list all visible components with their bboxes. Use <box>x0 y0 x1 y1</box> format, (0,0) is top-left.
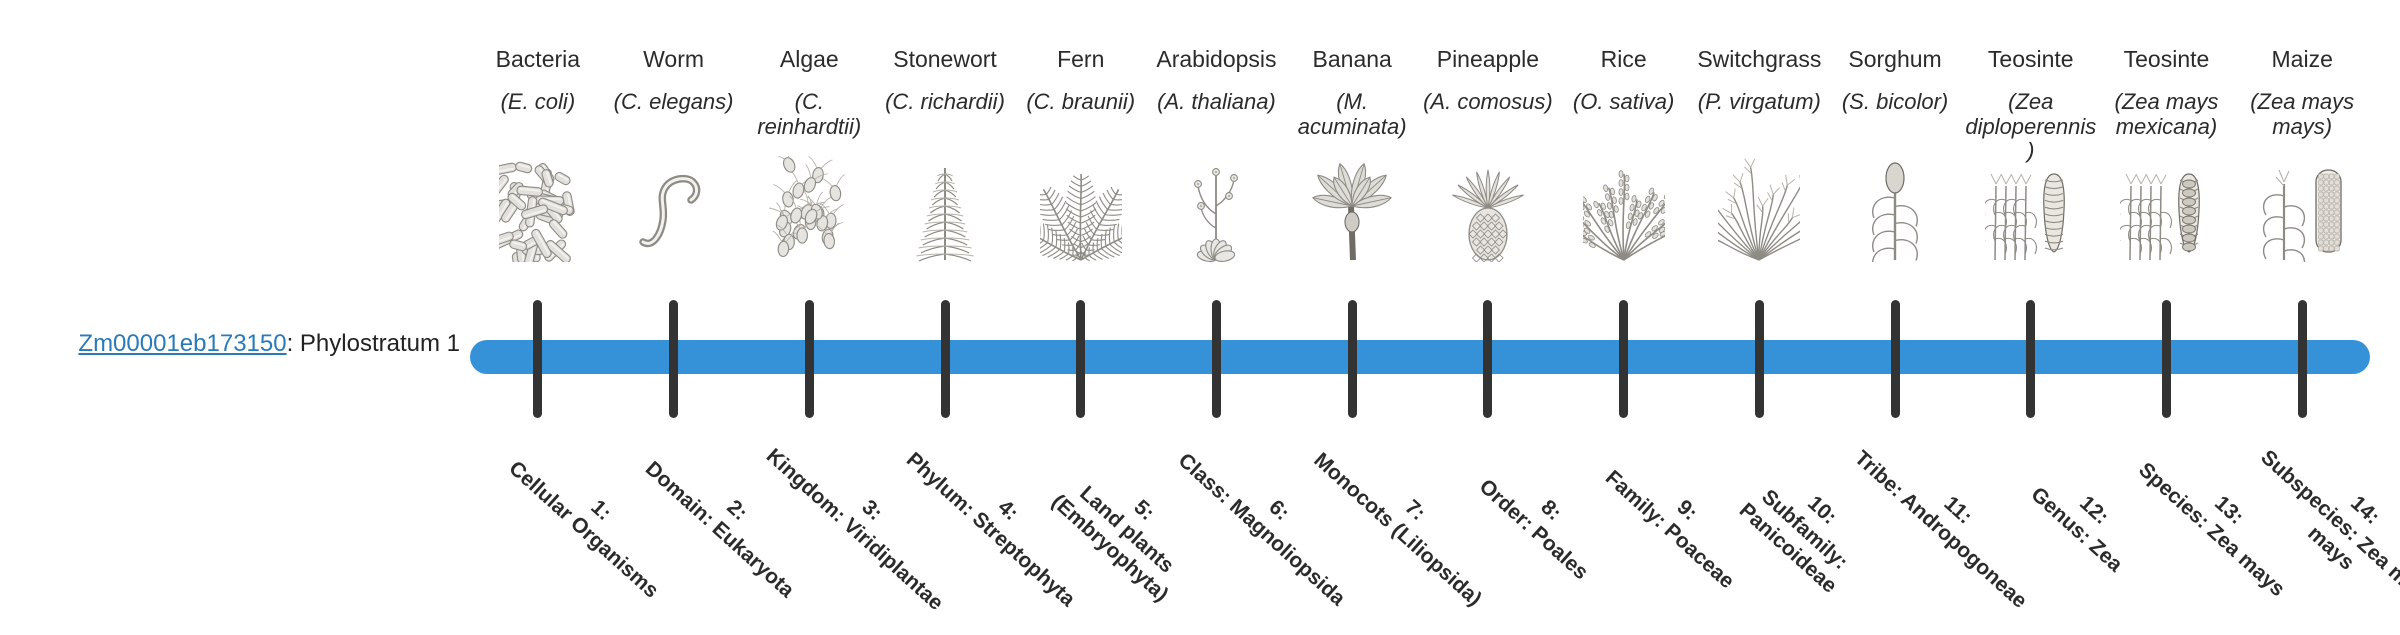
switchgrass-illustration <box>1691 154 1827 262</box>
species-common-name: Maize <box>2272 46 2333 76</box>
species-column: Pineapple(A. comosus) <box>1420 46 1556 306</box>
bacteria-illustration <box>470 154 606 262</box>
species-common-name: Rice <box>1601 46 1647 76</box>
teosinte-mexicana-illustration <box>2099 154 2235 262</box>
gene-id-link[interactable]: Zm00001eb173150 <box>78 330 286 357</box>
species-scientific-name: (A. thaliana) <box>1155 90 1278 148</box>
species-common-name: Fern <box>1057 46 1104 76</box>
species-column: Teosinte(Zea diploperennis) <box>1963 46 2099 306</box>
species-common-name: Arabidopsis <box>1156 46 1276 76</box>
gene-phylostratum-label: Zm00001eb173150: Phylostratum 1 <box>40 330 460 359</box>
species-column: Teosinte(Zea mays mexicana) <box>2099 46 2235 306</box>
species-common-name: Stonewort <box>893 46 997 76</box>
rice-illustration <box>1556 154 1692 262</box>
algae-illustration <box>741 154 877 262</box>
maize-illustration <box>2234 154 2370 262</box>
worm-illustration <box>606 154 742 262</box>
species-scientific-name: (S. bicolor) <box>1840 90 1950 148</box>
species-column: Worm(C. elegans) <box>606 46 742 306</box>
species-column: Algae(C. reinhardtii) <box>741 46 877 306</box>
species-column: Maize(Zea mays mays) <box>2234 46 2370 306</box>
pineapple-illustration <box>1420 154 1556 262</box>
species-common-name: Switchgrass <box>1697 46 1821 76</box>
species-scientific-name: (Zea mays mexicana) <box>2099 90 2235 148</box>
stonewort-illustration <box>877 154 1013 262</box>
species-column: Sorghum(S. bicolor) <box>1827 46 1963 306</box>
banana-illustration <box>1284 154 1420 262</box>
species-scientific-name: (E. coli) <box>499 90 578 148</box>
species-scientific-name: (P. virgatum) <box>1696 90 1823 148</box>
species-scientific-name: (C. richardii) <box>883 90 1007 148</box>
species-column: Switchgrass(P. virgatum) <box>1691 46 1827 306</box>
stratum-labels: 1: Cellular Organisms2: Domain: Eukaryot… <box>470 424 2370 580</box>
species-common-name: Algae <box>780 46 839 76</box>
phylostratum-bar[interactable] <box>470 340 2370 374</box>
species-scientific-name: (O. sativa) <box>1571 90 1676 148</box>
species-row: Bacteria(E. coli)Worm(C. elegans)Algae(C… <box>470 46 2370 306</box>
species-column: Stonewort(C. richardii) <box>877 46 1013 306</box>
sorghum-illustration <box>1827 154 1963 262</box>
species-scientific-name: (Zea diploperennis) <box>1963 90 2099 148</box>
gene-label-separator: : <box>287 330 300 357</box>
phylostratum-bar-fill <box>470 340 2370 374</box>
species-common-name: Sorghum <box>1848 46 1941 76</box>
species-column: Rice(O. sativa) <box>1556 46 1692 306</box>
species-common-name: Bacteria <box>496 46 580 76</box>
arabidopsis-illustration <box>1149 154 1285 262</box>
species-scientific-name: (A. comosus) <box>1421 90 1555 148</box>
species-column: Bacteria(E. coli) <box>470 46 606 306</box>
species-column: Banana(M. acuminata) <box>1284 46 1420 306</box>
species-common-name: Worm <box>643 46 704 76</box>
species-column: Fern(C. braunii) <box>1013 46 1149 306</box>
species-scientific-name: (C. elegans) <box>612 90 736 148</box>
phylostratum-value: Phylostratum 1 <box>300 330 460 357</box>
fern-illustration <box>1013 154 1149 262</box>
species-column: Arabidopsis(A. thaliana) <box>1149 46 1285 306</box>
species-scientific-name: (M. acuminata) <box>1284 90 1420 148</box>
species-common-name: Pineapple <box>1437 46 1539 76</box>
species-scientific-name: (Zea mays mays) <box>2234 90 2370 148</box>
species-scientific-name: (C. braunii) <box>1024 90 1137 148</box>
phylostratigraphy-figure: Zm00001eb173150: Phylostratum 1 Bacteria… <box>0 0 2400 580</box>
species-common-name: Teosinte <box>1988 46 2074 76</box>
species-scientific-name: (C. reinhardtii) <box>741 90 877 148</box>
species-common-name: Banana <box>1313 46 1392 76</box>
teosinte-diploperennis-illustration <box>1963 154 2099 262</box>
species-common-name: Teosinte <box>2124 46 2210 76</box>
